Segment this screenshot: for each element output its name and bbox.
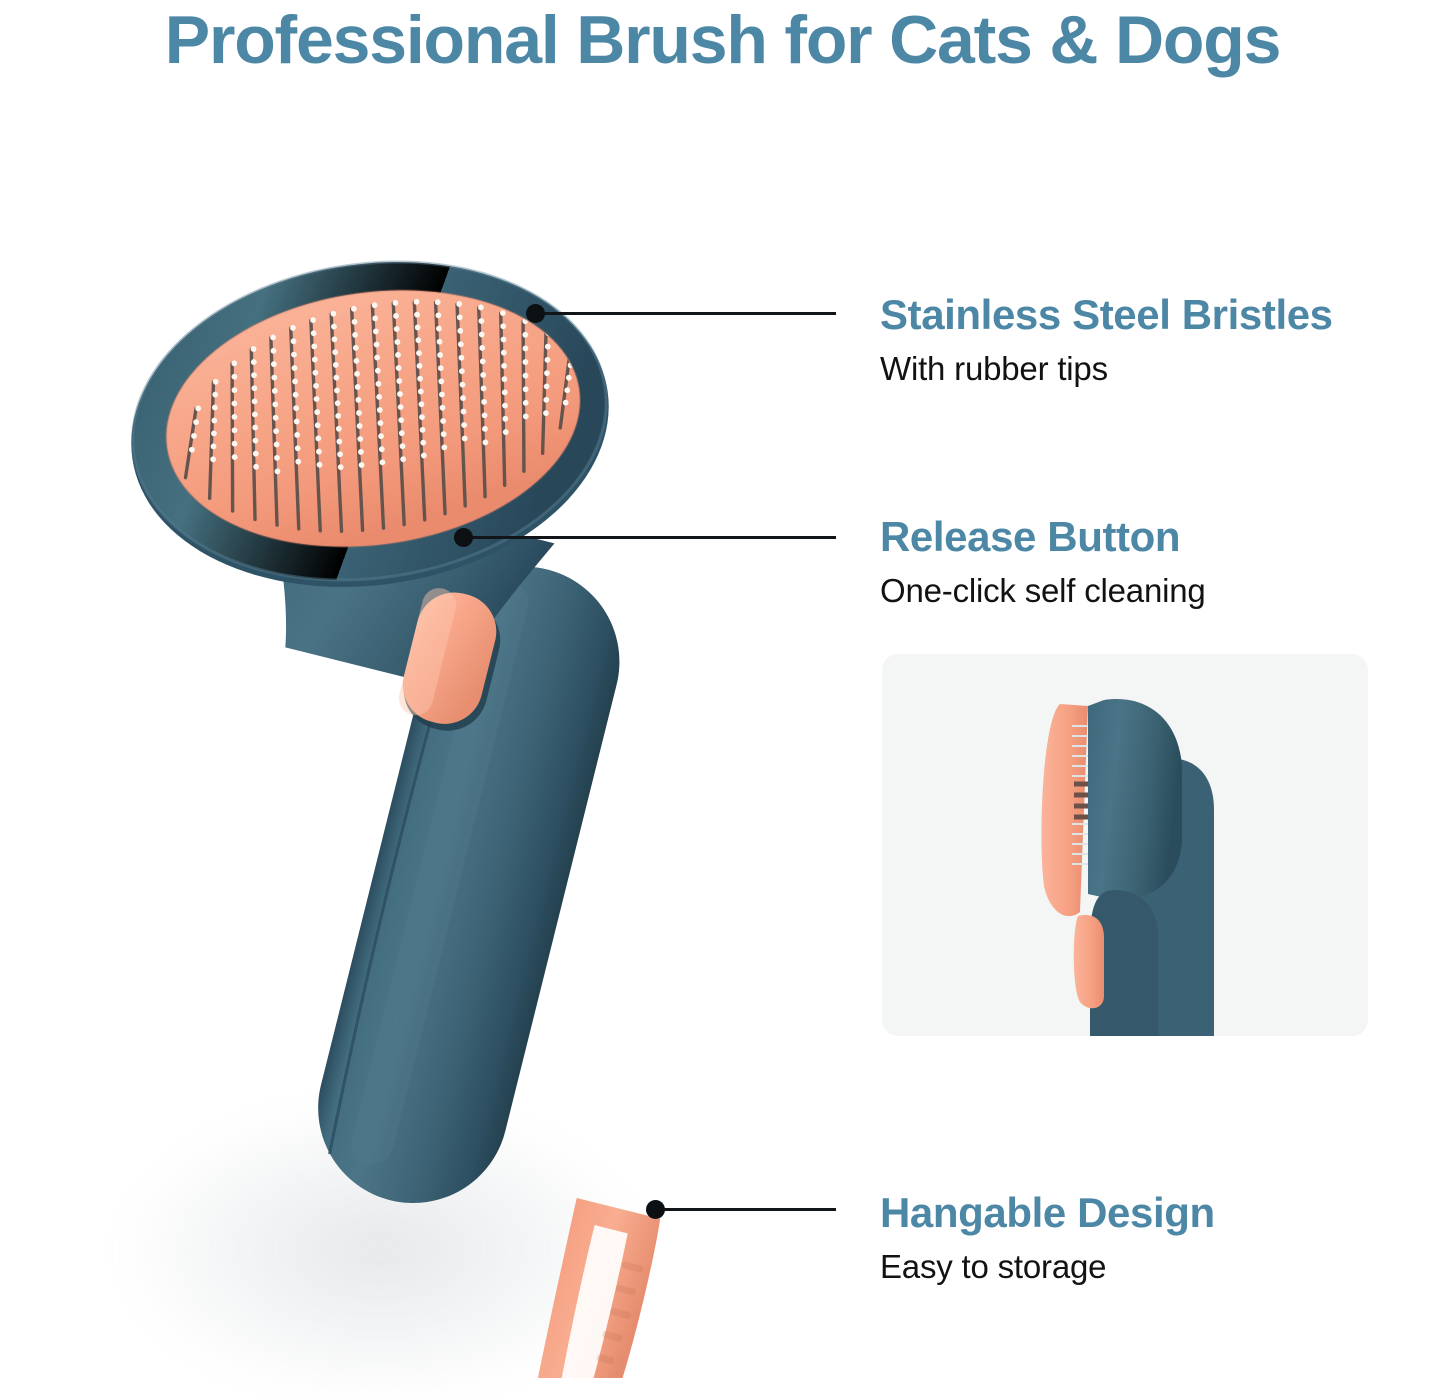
infographic-page: Professional Brush for Cats & Dogs: [0, 0, 1445, 1378]
inset-product-svg: [882, 654, 1368, 1036]
product-illustration: [0, 120, 860, 1378]
inset-product-card: [882, 654, 1368, 1036]
feature-title-bristles: Stainless Steel Bristles: [880, 292, 1333, 338]
callout-line-release-button: [471, 536, 836, 539]
callout-line-bristles: [543, 312, 836, 315]
feature-title-hangable-design: Hangable Design: [880, 1190, 1215, 1236]
feature-subtitle-bristles: With rubber tips: [880, 350, 1333, 388]
feature-subtitle-release-button: One-click self cleaning: [880, 572, 1206, 610]
page-title: Professional Brush for Cats & Dogs: [0, 4, 1445, 77]
feature-subtitle-hangable-design: Easy to storage: [880, 1248, 1215, 1286]
feature-hangable-design: Hangable Design Easy to storage: [880, 1190, 1215, 1286]
feature-release-button: Release Button One-click self cleaning: [880, 514, 1206, 610]
feature-stainless-steel-bristles: Stainless Steel Bristles With rubber tip…: [880, 292, 1333, 388]
product-svg: [0, 120, 860, 1378]
callout-dot-hangable-design: [646, 1200, 665, 1219]
callout-dot-release-button: [454, 528, 473, 547]
callout-line-hangable-design: [663, 1208, 836, 1211]
feature-title-release-button: Release Button: [880, 514, 1206, 560]
callout-dot-bristles: [526, 304, 545, 323]
